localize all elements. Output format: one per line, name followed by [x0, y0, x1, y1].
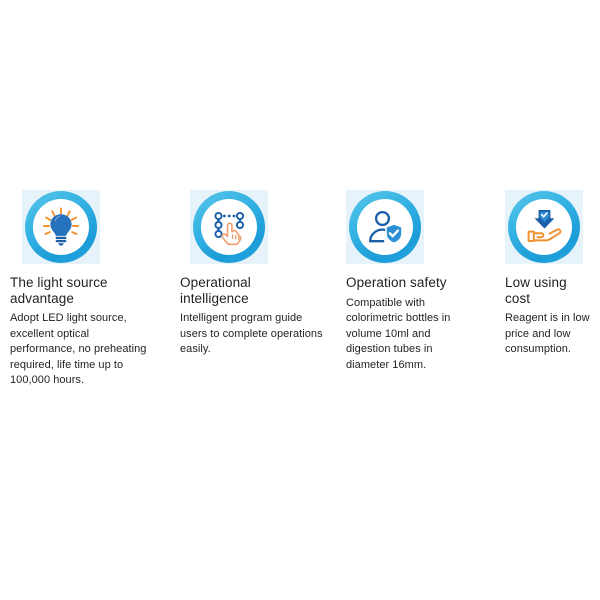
icon-badge [505, 190, 583, 264]
hand-arrow-down-icon [522, 205, 566, 249]
feature-title: Low using cost [505, 275, 585, 306]
icon-ring [193, 191, 265, 263]
feature-item-low-using-cost: Low using cost Reagent is in low price a… [490, 190, 600, 358]
icon-ring [508, 191, 580, 263]
icon-badge [190, 190, 268, 264]
feature-list: The light source advantage Adopt LED lig… [0, 190, 600, 389]
icon-badge [22, 190, 100, 264]
feature-item-light-source: The light source advantage Adopt LED lig… [0, 190, 170, 389]
person-shield-check-icon [363, 205, 407, 249]
icon-ring [25, 191, 97, 263]
feature-item-operational-intelligence: Operational intelligence Intelligent pro… [170, 190, 333, 358]
hand-pointer-flowchart-icon [207, 205, 251, 249]
feature-description: Intelligent program guide users to compl… [180, 311, 330, 358]
feature-title: The light source advantage [10, 275, 150, 306]
icon-ring [349, 191, 421, 263]
feature-title: Operation safety [346, 275, 491, 291]
icon-badge [346, 190, 424, 264]
feature-description: Compatible with colorimetric bottles in … [346, 296, 461, 374]
feature-highlights-page: The light source advantage Adopt LED lig… [0, 0, 600, 600]
feature-item-operation-safety: Operation safety Compatible with colorim… [333, 190, 490, 373]
feature-title: Operational intelligence [180, 275, 300, 306]
lightbulb-icon [39, 205, 83, 249]
feature-description: Adopt LED light source, excellent optica… [10, 311, 155, 389]
feature-description: Reagent is in low price and low consumpt… [505, 311, 597, 358]
